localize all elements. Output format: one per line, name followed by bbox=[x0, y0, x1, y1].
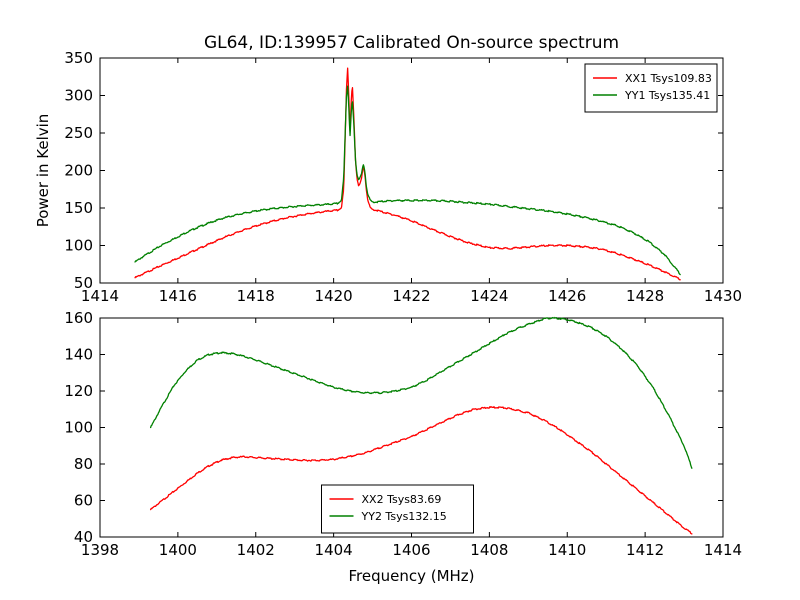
x-tick-label: 1430 bbox=[704, 287, 742, 305]
legend-label: YY1 Tsys135.41 bbox=[624, 89, 710, 102]
y-tick-label: 350 bbox=[64, 49, 93, 67]
x-tick-label: 1422 bbox=[392, 287, 430, 305]
x-tick-label: 1420 bbox=[315, 287, 353, 305]
y-tick-label: 60 bbox=[74, 492, 93, 510]
y-tick-label: 150 bbox=[64, 199, 93, 217]
y-axis-label: Power in Kelvin bbox=[34, 114, 52, 228]
x-tick-label: 1402 bbox=[237, 541, 275, 559]
x-tick-label: 1404 bbox=[315, 541, 353, 559]
plot-canvas: GL64, ID:139957 Calibrated On-source spe… bbox=[0, 0, 800, 600]
spectrum-figure: GL64, ID:139957 Calibrated On-source spe… bbox=[0, 0, 800, 600]
series-line-yy1 bbox=[135, 86, 680, 274]
x-tick-label: 1414 bbox=[704, 541, 742, 559]
y-tick-label: 100 bbox=[64, 237, 93, 255]
y-tick-label: 140 bbox=[64, 346, 93, 364]
legend: XX1 Tsys109.83YY1 Tsys135.41 bbox=[585, 64, 717, 112]
panel-2: 1398140014021404140614081410141214144060… bbox=[64, 309, 742, 585]
x-tick-label: 1418 bbox=[237, 287, 275, 305]
figure-title: GL64, ID:139957 Calibrated On-source spe… bbox=[204, 33, 619, 53]
y-tick-label: 300 bbox=[64, 87, 93, 105]
legend-label: XX2 Tsys83.69 bbox=[362, 493, 442, 506]
y-tick-label: 250 bbox=[64, 124, 93, 142]
x-tick-label: 1406 bbox=[392, 541, 430, 559]
x-tick-label: 1412 bbox=[626, 541, 664, 559]
x-tick-label: 1424 bbox=[470, 287, 508, 305]
x-tick-label: 1428 bbox=[626, 287, 664, 305]
panel-1: 1414141614181420142214241426142814305010… bbox=[34, 49, 742, 305]
legend-label: XX1 Tsys109.83 bbox=[625, 72, 712, 85]
x-tick-label: 1410 bbox=[548, 541, 586, 559]
legend: XX2 Tsys83.69YY2 Tsys132.15 bbox=[322, 485, 474, 533]
legend-label: YY2 Tsys132.15 bbox=[361, 510, 447, 523]
x-tick-label: 1426 bbox=[548, 287, 586, 305]
y-tick-label: 160 bbox=[64, 309, 93, 327]
x-tick-label: 1416 bbox=[159, 287, 197, 305]
y-tick-label: 100 bbox=[64, 419, 93, 437]
x-tick-label: 1400 bbox=[159, 541, 197, 559]
y-tick-label: 200 bbox=[64, 162, 93, 180]
x-tick-label: 1408 bbox=[470, 541, 508, 559]
y-tick-label: 50 bbox=[74, 274, 93, 292]
series-line-yy2 bbox=[151, 317, 692, 468]
x-axis-label: Frequency (MHz) bbox=[348, 567, 474, 585]
y-tick-label: 80 bbox=[74, 455, 93, 473]
y-tick-label: 120 bbox=[64, 382, 93, 400]
y-tick-label: 40 bbox=[74, 528, 93, 546]
